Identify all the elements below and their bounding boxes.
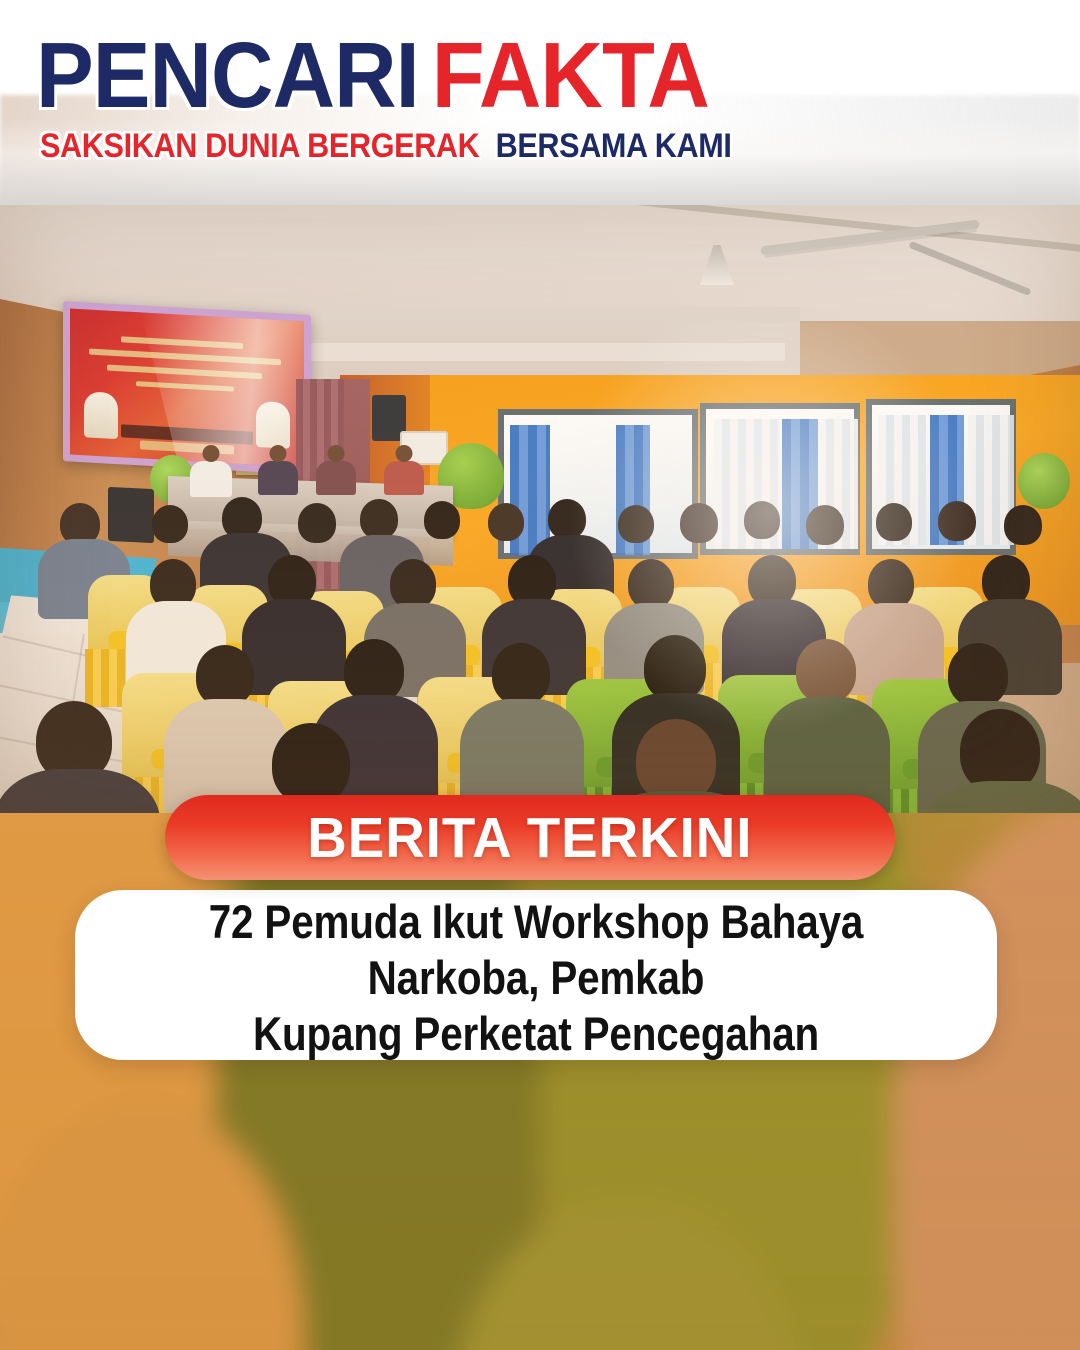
headline-card[interactable]: 72 Pemuda Ikut Workshop Bahaya Narkoba, … — [75, 890, 997, 1060]
logo-wordmark: PENCARIFAKTA — [36, 33, 709, 119]
tagline-part-two: BERSAMA KAMI — [496, 127, 732, 165]
badge-label: BERITA TERKINI — [307, 805, 752, 871]
site-logo: PENCARIFAKTA — [36, 33, 760, 119]
photo-vignette — [0, 203, 1080, 813]
news-photo — [0, 203, 1080, 813]
headline-line-1: 72 Pemuda Ikut Workshop Bahaya Narkoba, … — [209, 895, 864, 1004]
news-poster: PENCARIFAKTA SAKSIKAN DUNIA BERGERAKBERS… — [0, 0, 1080, 1350]
logo-word-fakta: FAKTA — [432, 23, 709, 127]
breaking-news-badge[interactable]: BERITA TERKINI — [165, 795, 895, 880]
headline-line-2: Kupang Perketat Pencegahan — [253, 1007, 819, 1060]
tagline-part-one: SAKSIKAN DUNIA BERGERAK — [40, 127, 479, 165]
logo-tagline: SAKSIKAN DUNIA BERGERAKBERSAMA KAMI — [40, 127, 732, 166]
logo-word-pencari: PENCARI — [36, 23, 419, 127]
headline-text: 72 Pemuda Ikut Workshop Bahaya Narkoba, … — [179, 894, 893, 1062]
